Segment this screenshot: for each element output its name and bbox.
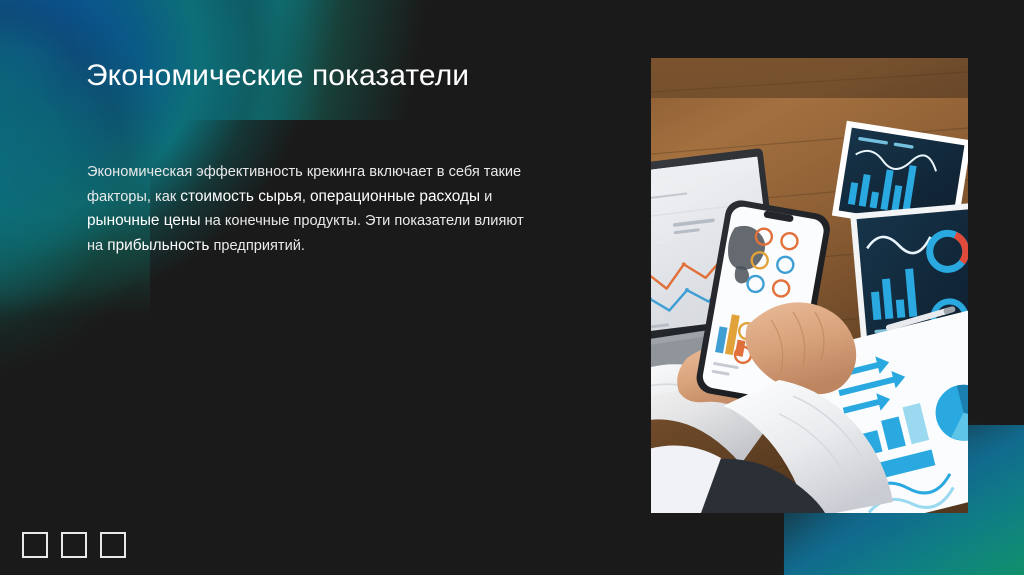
square-mark-1 <box>22 532 48 558</box>
body-emphasis-1: стоимость сырья <box>180 188 302 205</box>
body-emphasis-7: прибыльность <box>107 237 209 254</box>
photo-illustration <box>651 58 968 513</box>
body-emphasis-3: операционные расходы <box>310 188 480 205</box>
body-text-2: , <box>302 189 310 205</box>
presentation-slide: Экономические показатели Экономическая э… <box>0 0 1024 575</box>
square-mark-3 <box>100 532 126 558</box>
slide-title: Экономические показатели <box>86 59 469 93</box>
square-marks-group <box>22 532 126 558</box>
slide-body-text: Экономическая эффективность крекинга вкл… <box>87 160 527 258</box>
body-text-8: предприятий. <box>209 238 305 254</box>
square-mark-2 <box>61 532 87 558</box>
body-emphasis-5: рыночные цены <box>87 212 201 229</box>
body-text-4: и <box>480 189 492 205</box>
slide-photo <box>651 58 968 513</box>
